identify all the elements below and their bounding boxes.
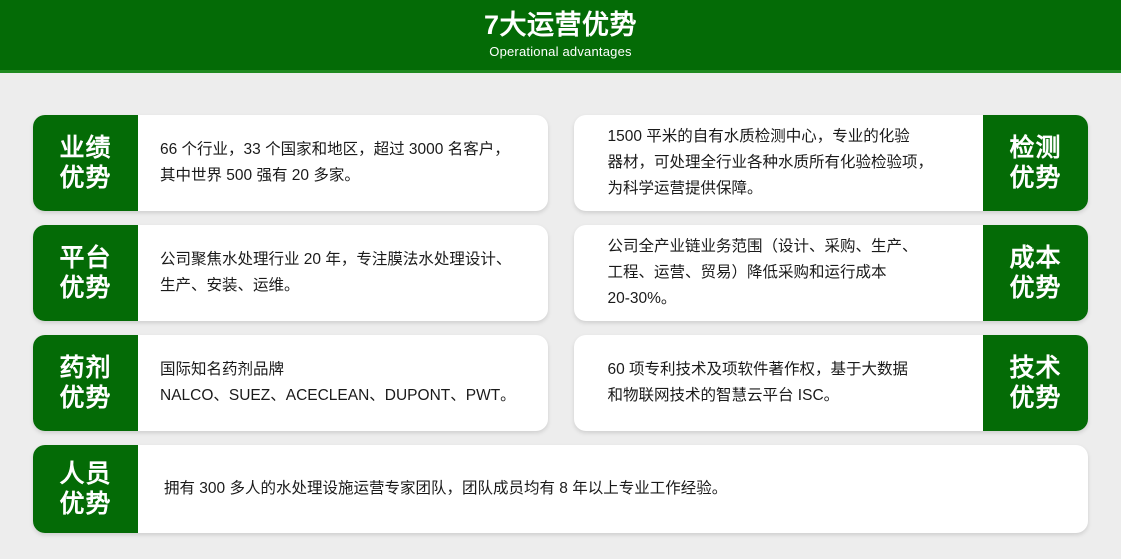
advantage-text-platform: 公司聚焦水处理行业 20 年，专注膜法水处理设计、 生产、安装、运维。	[138, 225, 548, 321]
advantage-text-technology: 60 项专利技术及项软件著作权，基于大数据 和物联网技术的智慧云平台 ISC。	[574, 335, 984, 431]
badge-line-1: 平台	[59, 243, 111, 273]
badge-line-1: 技术	[1009, 353, 1061, 383]
advantage-card-performance[interactable]: 业绩 优势 66 个行业，33 个国家和地区，超过 3000 名客户， 其中世界…	[33, 115, 548, 211]
advantage-row-3: 药剂 优势 国际知名药剂品牌 NALCO、SUEZ、ACECLEAN、DUPON…	[0, 335, 1121, 431]
badge-line-2: 优势	[59, 489, 111, 519]
page-subtitle: Operational advantages	[0, 42, 1121, 62]
badge-line-1: 业绩	[59, 133, 111, 163]
advantages-board: 业绩 优势 66 个行业，33 个国家和地区，超过 3000 名客户， 其中世界…	[0, 115, 1121, 533]
badge-line-1: 成本	[1009, 243, 1061, 273]
advantage-card-technology[interactable]: 60 项专利技术及项软件著作权，基于大数据 和物联网技术的智慧云平台 ISC。 …	[574, 335, 1089, 431]
advantage-text-personnel: 拥有 300 多人的水处理设施运营专家团队，团队成员均有 8 年以上专业工作经验…	[138, 445, 1088, 533]
badge-line-2: 优势	[1009, 163, 1061, 193]
advantage-text-performance: 66 个行业，33 个国家和地区，超过 3000 名客户， 其中世界 500 强…	[138, 115, 548, 211]
badge-cost: 成本 优势	[983, 225, 1088, 321]
badge-line-1: 人员	[59, 459, 111, 489]
badge-line-2: 优势	[1009, 273, 1061, 303]
advantage-card-chemicals[interactable]: 药剂 优势 国际知名药剂品牌 NALCO、SUEZ、ACECLEAN、DUPON…	[33, 335, 548, 431]
badge-platform: 平台 优势	[33, 225, 138, 321]
badge-line-2: 优势	[59, 163, 111, 193]
advantage-row-4: 人员 优势 拥有 300 多人的水处理设施运营专家团队，团队成员均有 8 年以上…	[0, 445, 1121, 533]
badge-testing: 检测 优势	[983, 115, 1088, 211]
advantage-card-platform[interactable]: 平台 优势 公司聚焦水处理行业 20 年，专注膜法水处理设计、 生产、安装、运维…	[33, 225, 548, 321]
badge-line-2: 优势	[59, 383, 111, 413]
badge-line-1: 检测	[1009, 133, 1061, 163]
badge-line-2: 优势	[1009, 383, 1061, 413]
badge-technology: 技术 优势	[983, 335, 1088, 431]
badge-performance: 业绩 优势	[33, 115, 138, 211]
advantage-card-testing[interactable]: 1500 平米的自有水质检测中心，专业的化验 器材，可处理全行业各种水质所有化验…	[574, 115, 1089, 211]
page-header: 7大运营优势 Operational advantages	[0, 0, 1121, 73]
advantage-card-personnel[interactable]: 人员 优势 拥有 300 多人的水处理设施运营专家团队，团队成员均有 8 年以上…	[33, 445, 1088, 533]
badge-line-1: 药剂	[59, 353, 111, 383]
badge-line-2: 优势	[59, 273, 111, 303]
advantage-text-testing: 1500 平米的自有水质检测中心，专业的化验 器材，可处理全行业各种水质所有化验…	[574, 115, 984, 211]
advantage-row-1: 业绩 优势 66 个行业，33 个国家和地区，超过 3000 名客户， 其中世界…	[0, 115, 1121, 211]
advantage-text-cost: 公司全产业链业务范围（设计、采购、生产、 工程、运营、贸易）降低采购和运行成本 …	[574, 225, 984, 321]
advantage-row-2: 平台 优势 公司聚焦水处理行业 20 年，专注膜法水处理设计、 生产、安装、运维…	[0, 225, 1121, 321]
page-title: 7大运营优势	[0, 9, 1121, 42]
badge-personnel: 人员 优势	[33, 445, 138, 533]
advantage-text-chemicals: 国际知名药剂品牌 NALCO、SUEZ、ACECLEAN、DUPONT、PWT。	[138, 335, 548, 431]
advantage-card-cost[interactable]: 公司全产业链业务范围（设计、采购、生产、 工程、运营、贸易）降低采购和运行成本 …	[574, 225, 1089, 321]
badge-chemicals: 药剂 优势	[33, 335, 138, 431]
